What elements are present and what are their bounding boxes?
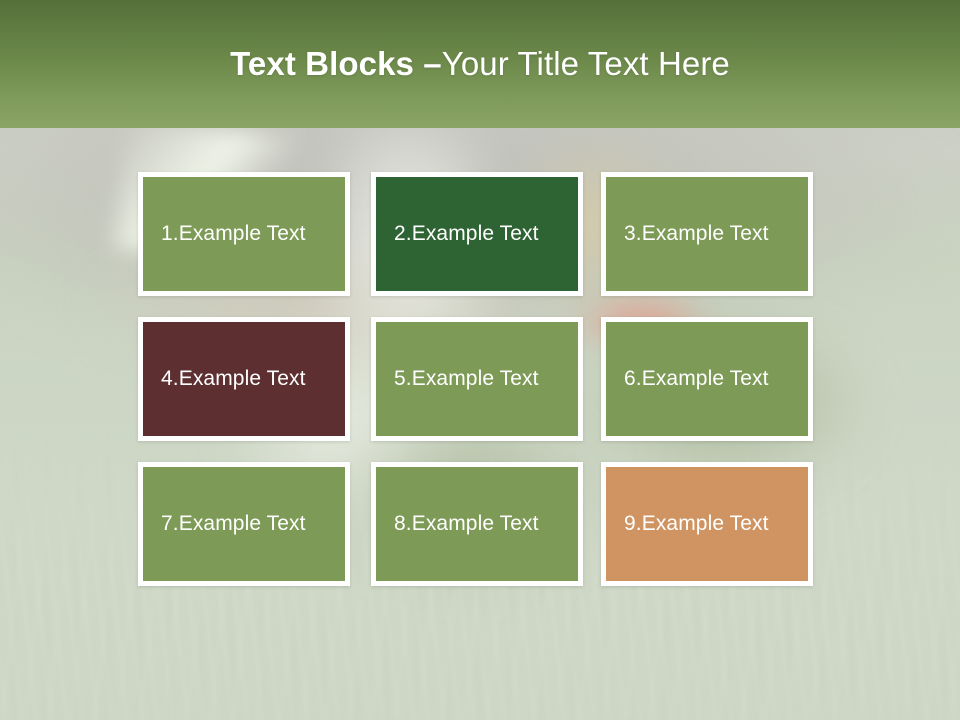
slide-canvas: Text Blocks – Your Title Text Here 1.Exa… [0, 0, 960, 720]
text-block-8[interactable]: 8.Example Text [371, 462, 583, 586]
text-block-1-label: 1.Example Text [143, 222, 306, 246]
text-block-2-label: 2.Example Text [376, 222, 539, 246]
page-title-light: Your Title Text Here [442, 45, 730, 83]
text-block-grid: 1.Example Text 2.Example Text 3.Example … [138, 172, 816, 590]
text-block-4[interactable]: 4.Example Text [138, 317, 350, 441]
text-block-1[interactable]: 1.Example Text [138, 172, 350, 296]
text-block-2[interactable]: 2.Example Text [371, 172, 583, 296]
text-block-7-label: 7.Example Text [143, 512, 306, 536]
page-title: Text Blocks – Your Title Text Here [0, 0, 960, 128]
text-block-5-label: 5.Example Text [376, 367, 539, 391]
text-block-8-label: 8.Example Text [376, 512, 539, 536]
text-block-4-label: 4.Example Text [143, 367, 306, 391]
text-block-5[interactable]: 5.Example Text [371, 317, 583, 441]
text-block-7[interactable]: 7.Example Text [138, 462, 350, 586]
text-block-3-label: 3.Example Text [606, 222, 769, 246]
text-block-9-label: 9.Example Text [606, 512, 769, 536]
text-block-6[interactable]: 6.Example Text [601, 317, 813, 441]
text-block-6-label: 6.Example Text [606, 367, 769, 391]
page-title-strong: Text Blocks – [230, 45, 442, 83]
text-block-3[interactable]: 3.Example Text [601, 172, 813, 296]
text-block-9[interactable]: 9.Example Text [601, 462, 813, 586]
